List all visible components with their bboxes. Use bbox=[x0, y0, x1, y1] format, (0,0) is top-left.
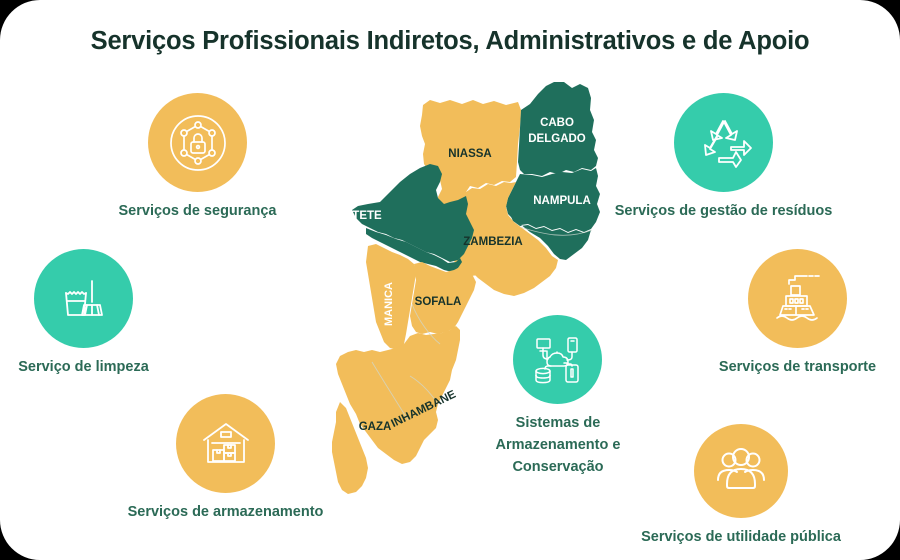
service-armazenamento[interactable]: Serviços de armazenamento bbox=[176, 394, 275, 493]
service-label-armazenamento: Serviços de armazenamento bbox=[119, 501, 332, 523]
security-lock-network-icon bbox=[148, 93, 247, 192]
province-cabo-delgado[interactable] bbox=[518, 82, 598, 176]
cargo-ship-icon bbox=[748, 249, 847, 348]
province-label-manica: MANICA bbox=[383, 282, 395, 326]
page-title: Serviços Profissionais Indiretos, Admini… bbox=[0, 27, 900, 56]
service-label-seguranca: Serviços de segurança bbox=[111, 200, 284, 222]
service-limpeza[interactable]: Serviço de limpeza bbox=[34, 249, 133, 348]
province-label-tete: TETE bbox=[352, 210, 382, 222]
province-label-nampula: NAMPULA bbox=[533, 195, 591, 207]
warehouse-boxes-icon bbox=[176, 394, 275, 493]
service-transporte[interactable]: Serviços de transporte bbox=[748, 249, 847, 348]
recycle-icon bbox=[674, 93, 773, 192]
province-label-niassa: NIASSA bbox=[448, 148, 491, 160]
service-label-utilidade-publica: Serviços de utilidade pública bbox=[635, 526, 847, 548]
service-label-gestao-residuos: Serviços de gestão de resíduos bbox=[611, 200, 836, 222]
service-sistemas-armazenamento[interactable]: Sistemas de Armazenamento e Conservação bbox=[513, 315, 602, 404]
service-label-limpeza: Serviço de limpeza bbox=[5, 356, 162, 378]
service-label-sistemas-armazenamento: Sistemas de Armazenamento e Conservação bbox=[464, 412, 652, 478]
service-label-transporte: Serviços de transporte bbox=[714, 356, 881, 378]
service-seguranca[interactable]: Serviços de segurança bbox=[148, 93, 247, 192]
service-gestao-residuos[interactable]: Serviços de gestão de resíduos bbox=[674, 93, 773, 192]
service-utilidade-publica[interactable]: Serviços de utilidade pública bbox=[694, 424, 788, 518]
cloud-network-storage-icon bbox=[513, 315, 602, 404]
bucket-broom-icon bbox=[34, 249, 133, 348]
province-label-sofala: SOFALA bbox=[415, 296, 462, 308]
province-label-cabo-delgado-2: DELGADO bbox=[528, 133, 586, 145]
province-label-zambezia: ZAMBEZIA bbox=[463, 236, 522, 248]
province-label-cabo-delgado-1: CABO bbox=[540, 117, 574, 129]
people-group-icon bbox=[694, 424, 788, 518]
province-label-gaza: GAZA bbox=[359, 421, 392, 433]
infographic-canvas: Serviços Profissionais Indiretos, Admini… bbox=[0, 0, 900, 560]
